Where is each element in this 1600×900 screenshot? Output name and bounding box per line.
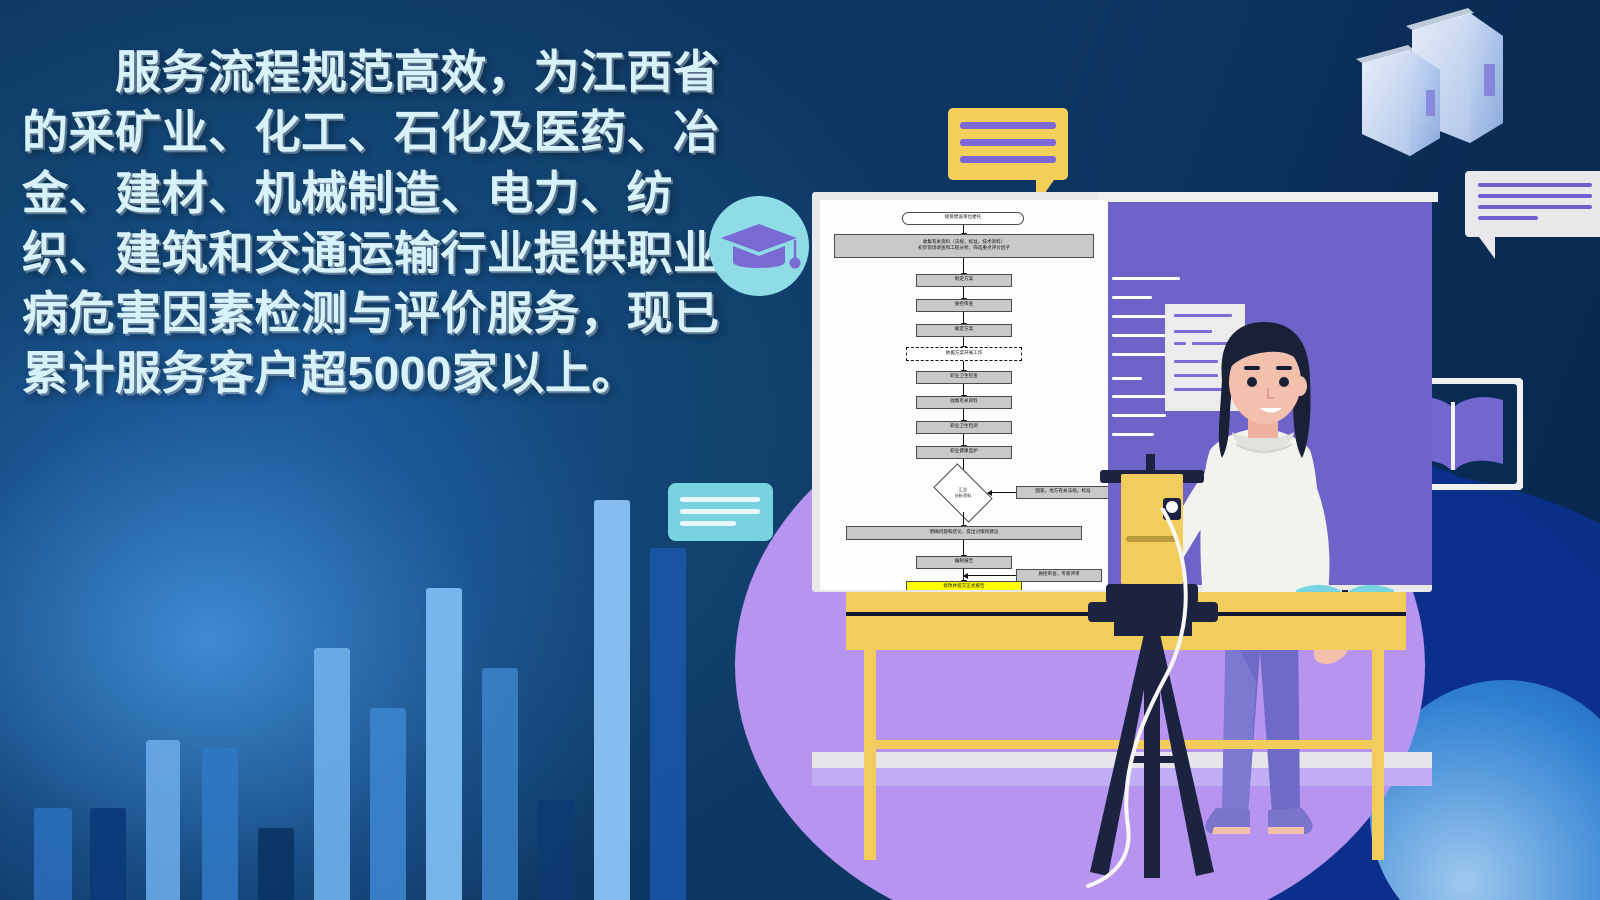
chart-bar — [594, 500, 630, 900]
instrument-cable — [1070, 508, 1200, 888]
page-headline: 服务流程规范高效，为江西省的采矿业、化工、石化及医药、冶金、建材、机械制造、电力… — [22, 42, 762, 404]
chalk-line — [1112, 334, 1166, 337]
flow-node-n9: 职业卫生检测 — [916, 421, 1012, 434]
flow-arrow — [963, 569, 964, 581]
flow-arrow — [963, 361, 964, 371]
chalk-line — [1112, 433, 1154, 436]
chart-bar — [650, 548, 686, 900]
flow-arrow — [963, 312, 964, 324]
flow-node-n8: 收集有关资料 — [916, 396, 1012, 409]
desk-leg-left — [864, 650, 876, 860]
flow-node-n14: 修改并提交正式报告 — [906, 581, 1022, 590]
illustration-scene: 接受建设单位委托 收集有关资料（法规，标准，技术资料） 初步现场调查和工程分析，… — [812, 192, 1432, 892]
flow-node-n12: 明确问题和结论，提出对策和建议 — [846, 526, 1082, 540]
chart-bar — [426, 588, 462, 900]
white-speech-bubble — [1465, 171, 1600, 237]
stacked-books-icon — [1348, 8, 1538, 183]
graduation-cap-icon — [709, 196, 809, 296]
flowchart-whiteboard: 接受建设单位委托 收集有关资料（法规，标准，技术资料） 初步现场调查和工程分析，… — [820, 200, 1108, 590]
flow-node-n2: 收集有关资料（法规，标准，技术资料） 初步现场调查和工程分析，筛选重点评价因子 — [834, 234, 1094, 258]
chalk-line — [1112, 377, 1142, 380]
flow-arrow-horizontal — [992, 492, 1016, 493]
chart-bar — [370, 708, 406, 900]
chart-bar — [146, 740, 180, 900]
flow-node-n1: 接受建设单位委托 — [902, 212, 1024, 225]
decorative-bar-chart — [0, 440, 700, 900]
chart-bar — [34, 808, 72, 900]
flow-node-n7: 职业卫生检查 — [916, 371, 1012, 384]
flow-arrow — [963, 540, 964, 556]
flow-arrow-horizontal — [968, 575, 1016, 576]
chalkboard-frame-top — [1098, 192, 1438, 202]
chart-bar — [90, 808, 126, 900]
chart-bar — [538, 800, 574, 900]
chart-bar — [314, 648, 350, 900]
chart-bar — [482, 668, 518, 900]
flow-arrow — [963, 409, 964, 421]
flow-arrow — [963, 384, 964, 396]
flow-node-n6: 依据方案开展工作 — [906, 347, 1022, 361]
cyan-speech-bubble — [668, 483, 773, 541]
desk-leg-right — [1372, 650, 1384, 860]
yellow-speech-bubble — [948, 108, 1068, 180]
chalk-line — [1112, 296, 1152, 299]
chalk-line — [1112, 277, 1180, 280]
flow-arrow — [963, 258, 964, 274]
flow-arrow — [963, 434, 964, 446]
flow-arrow — [963, 225, 964, 234]
flow-arrow — [963, 512, 964, 526]
flow-node-n10: 职业健康监护 — [916, 446, 1012, 459]
flow-node-n13: 编制报告 — [916, 556, 1012, 569]
flow-node-n4: 质控审查 — [916, 299, 1012, 312]
flow-arrow — [963, 337, 964, 347]
chalk-line — [1112, 414, 1166, 417]
chart-bar — [202, 748, 238, 900]
flow-arrow — [963, 287, 964, 299]
flow-node-n5: 确定方案 — [916, 324, 1012, 337]
chart-bar — [258, 828, 294, 900]
flow-node-n3: 制定方案 — [916, 274, 1012, 287]
